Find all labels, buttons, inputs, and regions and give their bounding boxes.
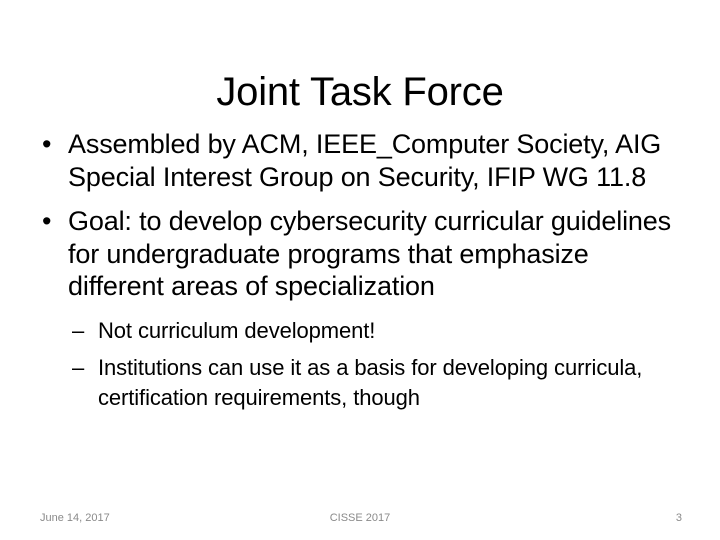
sub-bullet-item: – Institutions can use it as a basis for…	[72, 353, 686, 413]
bullet-dot-icon: •	[42, 128, 51, 161]
slide-title: Joint Task Force	[36, 69, 684, 115]
footer-date: June 14, 2017	[40, 508, 110, 528]
slide-body: • Assembled by ACM, IEEE_Computer Societ…	[38, 128, 686, 420]
sub-bullet-text: Institutions can use it as a basis for d…	[98, 355, 642, 410]
bullet-dash-icon: –	[72, 353, 84, 383]
sub-bullet-list: – Not curriculum development! – Institut…	[38, 316, 686, 413]
bullet-text: Assembled by ACM, IEEE_Computer Society,…	[68, 129, 661, 192]
sub-bullet-text: Not curriculum development!	[98, 318, 375, 343]
slide-canvas: Joint Task Force • Assembled by ACM, IEE…	[0, 0, 720, 540]
bullet-dash-icon: –	[72, 316, 84, 346]
bullet-item: • Goal: to develop cybersecurity curricu…	[38, 205, 686, 303]
sub-bullet-item: – Not curriculum development!	[72, 316, 686, 346]
bullet-dot-icon: •	[42, 205, 51, 238]
bullet-item: • Assembled by ACM, IEEE_Computer Societ…	[38, 128, 686, 193]
footer-page-number: 3	[676, 508, 682, 528]
bullet-text: Goal: to develop cybersecurity curricula…	[68, 206, 671, 301]
slide-footer: June 14, 2017 CISSE 2017 3	[0, 508, 720, 528]
footer-conference-label: CISSE 2017	[280, 508, 440, 528]
